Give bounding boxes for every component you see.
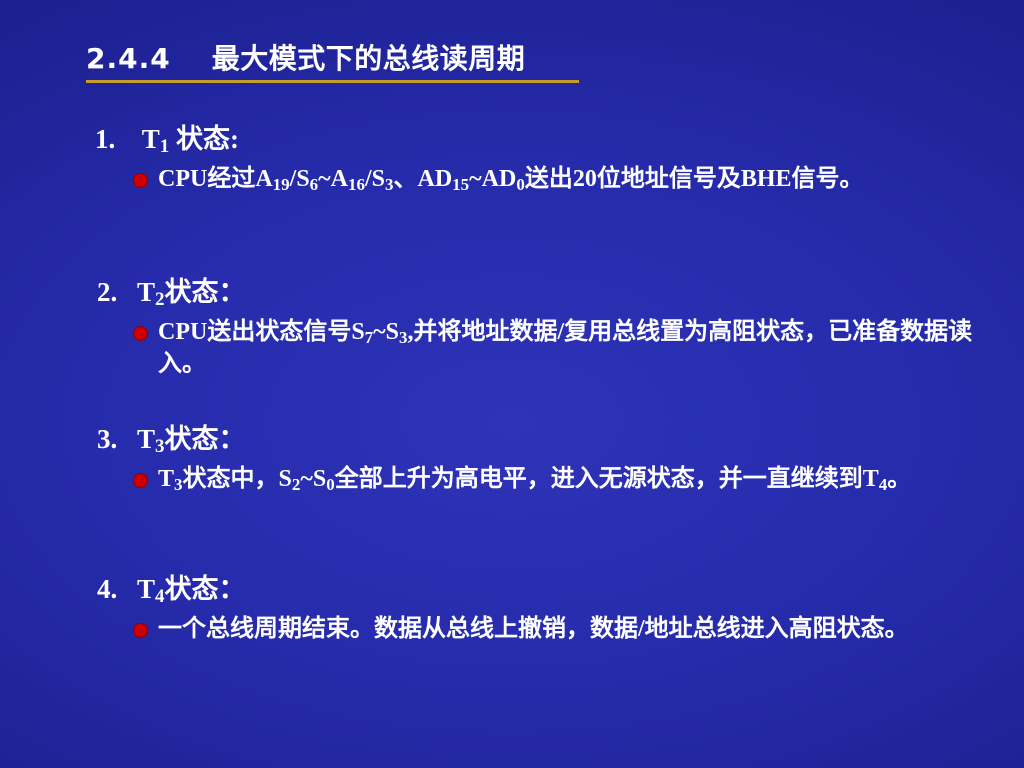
- slide-title-area: 2.4.4 最大模式下的总线读周期: [86, 44, 686, 83]
- section-heading: 3. T3状态：: [97, 424, 1024, 455]
- filled-circle-bullet-icon: [133, 623, 148, 638]
- heading-spacer: [122, 124, 136, 154]
- section-t2: 2. T2状态： CPU送出状态信号S7~S3,并将地址数据/复用总线置为高阻状…: [0, 277, 1024, 380]
- heading-main: T: [137, 277, 155, 307]
- section-t1: 1. T1 状态: CPU经过A19/S6~A16/S3、AD15~AD0送出2…: [0, 124, 1024, 196]
- title-number: 2.4.4: [86, 42, 171, 75]
- filled-circle-bullet-icon: [133, 173, 148, 188]
- bullet-text: CPU送出状态信号S7~S3,并将地址数据/复用总线置为高阻状态，已准备数据读入…: [158, 317, 973, 380]
- heading-number: 2.: [97, 277, 117, 307]
- filled-circle-bullet-icon: [133, 473, 148, 488]
- heading-tail: 状态:: [169, 124, 239, 154]
- heading-tail: 状态：: [165, 574, 246, 604]
- section-heading: 2. T2状态：: [97, 277, 1024, 308]
- filled-circle-bullet-icon: [133, 326, 148, 341]
- spacer: [0, 455, 1024, 464]
- heading-main: T: [137, 424, 155, 454]
- section-heading: 1. T1 状态:: [95, 124, 1024, 155]
- bullet-text: 一个总线周期结束。数据从总线上撤销，数据/地址总线进入高阻状态。: [158, 614, 909, 646]
- title-text: 最大模式下的总线读周期: [212, 42, 526, 75]
- bullet-item: T3状态中，S2~S0全部上升为高电平，进入无源状态，并一直继续到T4。: [133, 464, 973, 496]
- title-underline: [86, 80, 579, 83]
- page-title: 2.4.4 最大模式下的总线读周期: [86, 44, 686, 75]
- bullet-text: T3状态中，S2~S0全部上升为高电平，进入无源状态，并一直继续到T4。: [158, 464, 911, 496]
- title-spacer: [181, 42, 202, 75]
- spacer: [0, 605, 1024, 614]
- spacer: [0, 155, 1024, 164]
- heading-subscript: 2: [155, 289, 165, 310]
- heading-main: T: [142, 124, 160, 154]
- bullet-item: CPU经过A19/S6~A16/S3、AD15~AD0送出20位地址信号及BHE…: [133, 164, 973, 196]
- bullet-item: 一个总线周期结束。数据从总线上撤销，数据/地址总线进入高阻状态。: [133, 614, 973, 646]
- heading-spacer: [124, 277, 131, 307]
- heading-subscript: 3: [155, 436, 165, 457]
- section-t3: 3. T3状态： T3状态中，S2~S0全部上升为高电平，进入无源状态，并一直继…: [0, 424, 1024, 496]
- heading-number: 1.: [95, 124, 115, 154]
- section-t4: 4. T4状态： 一个总线周期结束。数据从总线上撤销，数据/地址总线进入高阻状态…: [0, 574, 1024, 646]
- heading-main: T: [137, 574, 155, 604]
- heading-number: 4.: [97, 574, 117, 604]
- spacer: [0, 308, 1024, 317]
- section-heading: 4. T4状态：: [97, 574, 1024, 605]
- heading-spacer: [124, 424, 131, 454]
- heading-subscript: 4: [155, 586, 165, 607]
- bullet-item: CPU送出状态信号S7~S3,并将地址数据/复用总线置为高阻状态，已准备数据读入…: [133, 317, 973, 380]
- slide: 2.4.4 最大模式下的总线读周期 1. T1 状态: CPU经过A19/S6~…: [0, 0, 1024, 768]
- bullet-text: CPU经过A19/S6~A16/S3、AD15~AD0送出20位地址信号及BHE…: [158, 164, 864, 196]
- heading-number: 3.: [97, 424, 117, 454]
- heading-spacer: [124, 574, 131, 604]
- heading-tail: 状态：: [165, 424, 246, 454]
- heading-tail: 状态：: [165, 277, 246, 307]
- heading-subscript: 1: [160, 136, 170, 157]
